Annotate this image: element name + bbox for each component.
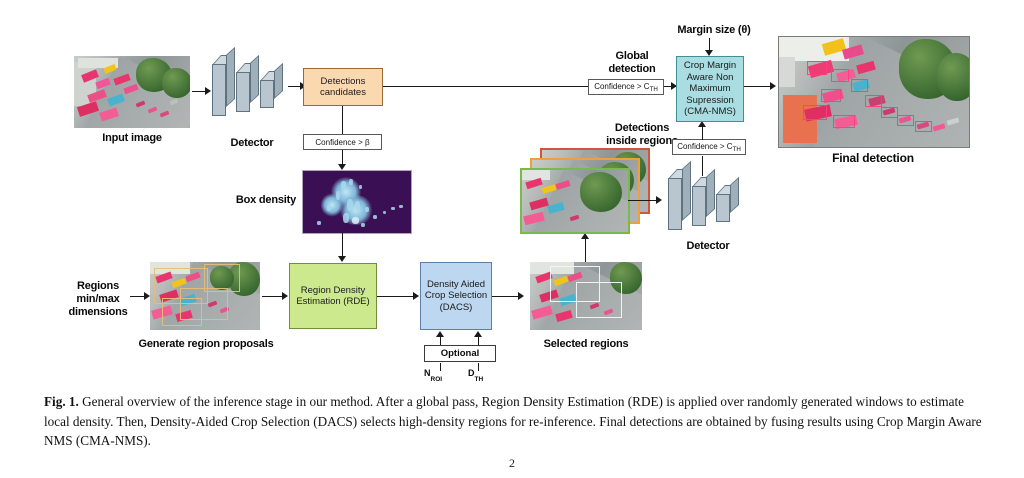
arrow-detector2-up (702, 156, 703, 176)
input-image-thumbnail (74, 56, 190, 128)
figure-caption: Fig. 1. General overview of the inferenc… (44, 392, 984, 451)
dacs-box: Density Aided Crop Selection (DACS) (420, 262, 492, 330)
arrowhead-dacs-to-selected (518, 292, 524, 300)
cma-nms-label: Crop Margin Aware Non Maximum Supression… (684, 60, 736, 118)
arrow-candidates-down (342, 106, 343, 134)
region-proposals-label: Generate region proposals (128, 338, 284, 351)
page-number: 2 (0, 456, 1024, 471)
figure-diagram: Input image Detector Detections candidat… (0, 0, 1024, 385)
selected-regions-label: Selected regions (526, 338, 646, 351)
confidence-beta-box: Confidence > β (303, 134, 382, 150)
d-th-label: DTH (468, 368, 483, 381)
final-detection-thumbnail (778, 36, 970, 148)
detections-candidates-box: Detections candidates (303, 68, 383, 106)
box-density-heatmap (302, 170, 412, 234)
detector-1-icon (212, 54, 284, 116)
arrow-regionsconf-to-nms (702, 126, 703, 140)
detector-1-label: Detector (212, 137, 292, 150)
confidence-cth-regions-label: Confidence > CTH (677, 142, 741, 152)
n-roi-main: N (424, 368, 431, 378)
arrow-input-to-detector (192, 91, 206, 92)
arrowhead-input-to-detector (205, 87, 211, 95)
selected-regions-thumbnail (530, 262, 642, 330)
arrowhead-nms-to-final (770, 82, 776, 90)
dacs-label: Density Aided Crop Selection (DACS) (425, 279, 487, 314)
arrowhead-density-to-rde (338, 256, 346, 262)
optional-box: Optional (424, 345, 496, 362)
region-proposals-thumbnail (150, 262, 260, 330)
crop-image-front (520, 168, 630, 234)
n-roi-sub: ROI (431, 376, 443, 383)
input-image-label: Input image (74, 132, 190, 145)
d-th-sub: TH (475, 376, 484, 383)
d-th-main: D (468, 368, 475, 378)
arrowhead-rde-to-dacs (413, 292, 419, 300)
caption-text: General overview of the inference stage … (44, 394, 982, 448)
confidence-cth-global-label: Confidence > CTH (594, 82, 658, 92)
regions-minmax-label: Regions min/max dimensions (62, 280, 134, 319)
arrowhead-proposals-to-rde (282, 292, 288, 300)
rde-label: Region Density Estimation (RDE) (296, 285, 369, 308)
detector-2-icon (668, 168, 740, 230)
confidence-cth-regions-box: Confidence > CTH (672, 139, 746, 155)
detector-2-label: Detector (668, 240, 748, 253)
arrowhead-optional-left-up (436, 331, 444, 337)
arrow-selected-up (585, 238, 586, 262)
arrowhead-crops-to-detector2 (656, 196, 662, 204)
margin-size-label: Margin size (θ) (662, 24, 766, 37)
rde-box: Region Density Estimation (RDE) (289, 263, 377, 329)
optional-label: Optional (441, 348, 480, 359)
n-roi-label: NROI (424, 368, 442, 381)
caption-label: Fig. 1. (44, 394, 79, 409)
arrow-rde-to-dacs (377, 296, 417, 297)
confidence-cth-global-box: Confidence > CTH (588, 79, 664, 95)
global-detection-label: Global detection (588, 50, 676, 76)
detections-candidates-label: Detections candidates (320, 76, 366, 99)
final-detection-label: Final detection (778, 152, 968, 165)
confidence-beta-label: Confidence > β (315, 138, 369, 147)
cma-nms-box: Crop Margin Aware Non Maximum Supression… (676, 56, 744, 122)
detections-inside-regions-stack (520, 148, 650, 238)
box-density-label: Box density (200, 194, 296, 207)
arrow-candidates-to-global (383, 86, 588, 87)
arrowhead-optional-right-up (474, 331, 482, 337)
